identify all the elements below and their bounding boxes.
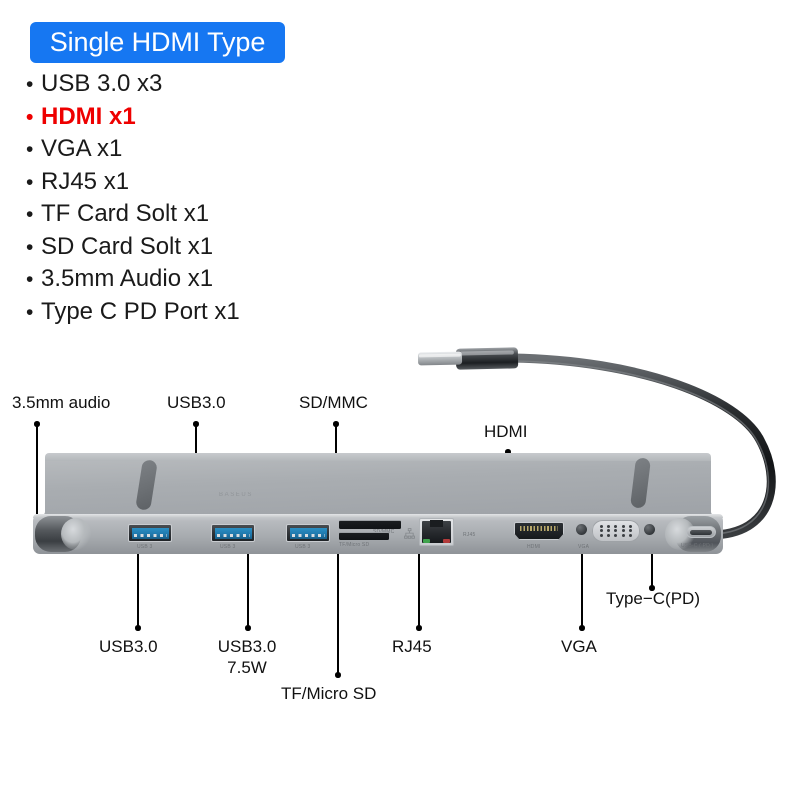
feature-item: • USB 3.0 x3 bbox=[26, 70, 446, 103]
feature-item: • VGA x1 bbox=[26, 135, 446, 168]
callout-dot bbox=[335, 672, 341, 678]
bullet-icon: • bbox=[26, 237, 41, 258]
port-usb-c-pd[interactable] bbox=[686, 526, 716, 538]
callout-usb30-2-sub: 7.5W bbox=[209, 657, 285, 678]
feature-item: • 3.5mm Audio x1 bbox=[26, 265, 446, 298]
silk-usb-c: USB-C ( PD ) bbox=[681, 543, 713, 549]
bullet-icon: • bbox=[26, 302, 41, 323]
usb-a-insert bbox=[132, 528, 169, 539]
feature-item: • Type C PD Port x1 bbox=[26, 298, 446, 331]
port-usb-a-2[interactable] bbox=[211, 524, 255, 542]
connector-tip-gloss bbox=[419, 354, 461, 358]
type-badge: Single HDMI Type bbox=[30, 22, 285, 63]
silk-hdmi: HDMI bbox=[527, 544, 541, 550]
callout-leader-line bbox=[581, 549, 583, 627]
connector-gloss bbox=[460, 350, 514, 355]
vga-pin-row bbox=[598, 534, 634, 537]
port-vga[interactable] bbox=[592, 520, 640, 542]
feature-label: USB 3.0 x3 bbox=[41, 70, 162, 98]
bullet-icon: • bbox=[26, 269, 41, 290]
bullet-icon: • bbox=[26, 204, 41, 225]
callout-dot bbox=[245, 625, 251, 631]
slot-sd-mmc[interactable] bbox=[339, 520, 401, 529]
callout-leader-line bbox=[337, 549, 339, 674]
vga-screw-left bbox=[576, 524, 587, 535]
bullet-icon: • bbox=[26, 139, 41, 160]
callout-usb30-top: USB3.0 bbox=[167, 392, 226, 413]
feature-label: Type C PD Port x1 bbox=[41, 298, 240, 326]
callout-leader-line bbox=[137, 549, 139, 627]
silk-usb-a-3: USB 3 bbox=[295, 544, 310, 550]
port-hdmi[interactable] bbox=[514, 522, 564, 540]
rj45-inner bbox=[422, 521, 451, 543]
bullet-icon: • bbox=[26, 107, 41, 128]
type-badge-label: Single HDMI Type bbox=[50, 27, 266, 58]
feature-item: • TF Card Solt x1 bbox=[26, 200, 446, 233]
silk-vga: VGA bbox=[578, 544, 589, 550]
callout-usb30-2: USB3.0 7.5W bbox=[209, 636, 285, 678]
feature-list: • USB 3.0 x3 • HDMI x1 • VGA x1 • RJ45 x… bbox=[26, 70, 446, 330]
callout-3.5mm-audio: 3.5mm audio bbox=[12, 392, 110, 413]
brand-wordmark: BASEUS bbox=[219, 492, 253, 498]
usb-a-insert bbox=[215, 528, 252, 539]
callout-vga: VGA bbox=[561, 636, 597, 657]
feature-label: 3.5mm Audio x1 bbox=[41, 265, 213, 293]
connector-body bbox=[456, 347, 518, 369]
bullet-icon: • bbox=[26, 74, 41, 95]
callout-leader-line bbox=[418, 549, 420, 627]
vga-pin-row bbox=[598, 529, 634, 532]
network-icon bbox=[404, 528, 415, 539]
feature-label: SD Card Solt x1 bbox=[41, 233, 213, 261]
feature-label: TF Card Solt x1 bbox=[41, 200, 209, 228]
usb-c-connector bbox=[418, 347, 518, 369]
vga-pin-row bbox=[598, 525, 634, 528]
slot-tf-micro-sd[interactable] bbox=[339, 532, 389, 540]
silk-tf-slot: TF/Micro SD bbox=[339, 542, 369, 548]
callout-sd-mmc: SD/MMC bbox=[299, 392, 368, 413]
feature-label: VGA x1 bbox=[41, 135, 122, 163]
port-rj45[interactable] bbox=[419, 518, 454, 546]
callout-dot bbox=[579, 625, 585, 631]
product-infographic: Single HDMI Type • USB 3.0 x3 • HDMI x1 … bbox=[0, 0, 800, 800]
callout-dot bbox=[135, 625, 141, 631]
feature-label: RJ45 x1 bbox=[41, 168, 129, 196]
rj45-led-green bbox=[423, 539, 430, 543]
docking-station-device: BASEUS USB 3 USB 3 USB 3 SD/MMC TF/Micro… bbox=[33, 450, 723, 556]
silk-usb-a-1: USB 3 bbox=[137, 544, 152, 550]
vga-screw-right bbox=[644, 524, 655, 535]
callout-rj45: RJ45 bbox=[392, 636, 432, 657]
callout-type-c-pd: Type−C(PD) bbox=[606, 588, 700, 609]
usb-c-tongue bbox=[690, 530, 712, 535]
callout-tf-micro-sd: TF/Micro SD bbox=[281, 683, 376, 704]
port-usb-a-3[interactable] bbox=[286, 524, 330, 542]
hdmi-pins bbox=[520, 526, 558, 531]
callout-hdmi: HDMI bbox=[484, 421, 527, 442]
rj45-led-amber bbox=[443, 539, 450, 543]
bullet-icon: • bbox=[26, 172, 41, 193]
port-usb-a-1[interactable] bbox=[128, 524, 172, 542]
feature-item: • RJ45 x1 bbox=[26, 168, 446, 201]
callout-usb30-2-label: USB3.0 bbox=[209, 636, 285, 657]
vga-pin-holes bbox=[598, 524, 634, 538]
callout-leader-line bbox=[247, 549, 249, 627]
usb-a-insert bbox=[290, 528, 327, 539]
callout-usb30-1: USB3.0 bbox=[99, 636, 158, 657]
device-top-bevel bbox=[45, 453, 711, 461]
silk-rj45: RJ45 bbox=[463, 532, 475, 538]
feature-item: • HDMI x1 bbox=[26, 103, 446, 136]
silk-usb-a-2: USB 3 bbox=[220, 544, 235, 550]
front-face-highlight bbox=[33, 514, 723, 518]
feature-label: HDMI x1 bbox=[41, 103, 136, 131]
feature-item: • SD Card Solt x1 bbox=[26, 233, 446, 266]
connector-tip bbox=[418, 352, 462, 366]
end-cap-gloss-left bbox=[61, 518, 91, 550]
callout-dot bbox=[416, 625, 422, 631]
